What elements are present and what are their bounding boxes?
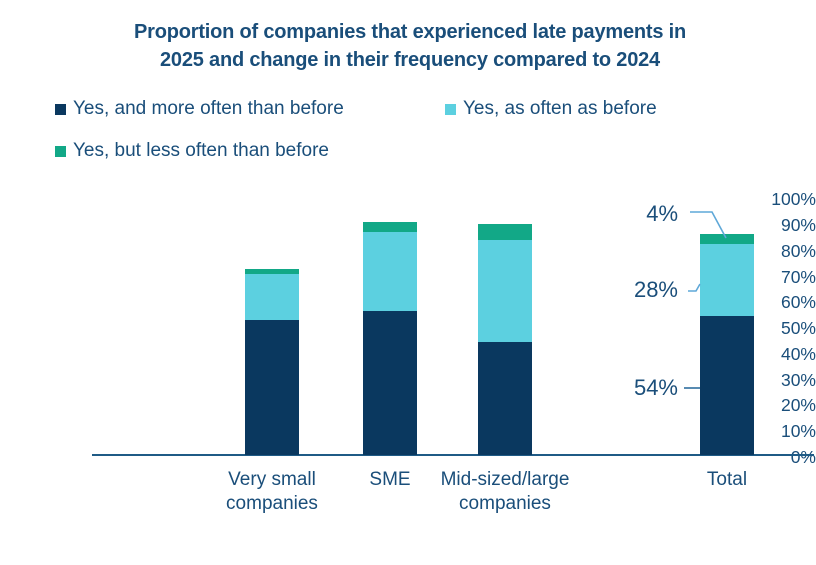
chart-container: Proportion of companies that experienced… bbox=[0, 0, 816, 565]
bar-segment-more-often[interactable] bbox=[478, 342, 532, 455]
x-label-text: Very small companies bbox=[226, 469, 318, 514]
y-tick-100: 100% bbox=[730, 190, 816, 208]
leader-line-as-often bbox=[688, 284, 700, 291]
bar-segment-as-often[interactable] bbox=[245, 274, 299, 320]
bar-segment-less-often[interactable] bbox=[363, 222, 417, 232]
bar-total[interactable] bbox=[700, 234, 754, 455]
bar-sme[interactable] bbox=[363, 222, 417, 455]
bar-segment-more-often[interactable] bbox=[700, 316, 754, 455]
bar-very-small-companies[interactable] bbox=[245, 269, 299, 455]
callout-label-more-often: 54% bbox=[578, 375, 678, 401]
x-label-very-small-companies: Very small companies bbox=[196, 468, 348, 516]
x-label-text: Mid-sized/large companies bbox=[441, 469, 570, 514]
bar-segment-as-often[interactable] bbox=[478, 240, 532, 342]
bar-segment-as-often[interactable] bbox=[363, 232, 417, 311]
bar-mid-sized-large-companies[interactable] bbox=[478, 224, 532, 455]
x-label-mid-sized-large-companies: Mid-sized/large companies bbox=[429, 468, 581, 516]
bar-segment-less-often[interactable] bbox=[700, 234, 754, 244]
y-tick-90: 90% bbox=[730, 216, 816, 234]
callout-label-less-often: 4% bbox=[578, 201, 678, 227]
bar-segment-more-often[interactable] bbox=[363, 311, 417, 455]
bar-segment-more-often[interactable] bbox=[245, 320, 299, 455]
bar-segment-as-often[interactable] bbox=[700, 244, 754, 316]
callout-label-as-often: 28% bbox=[578, 277, 678, 303]
plot-area: 100% 90% 80% 70% 60% 50% 40% 30% 20% 10%… bbox=[0, 0, 816, 565]
x-label-total: Total bbox=[651, 468, 803, 492]
x-label-text: SME bbox=[369, 469, 410, 490]
bar-segment-less-often[interactable] bbox=[478, 224, 532, 240]
x-label-text: Total bbox=[707, 469, 747, 490]
